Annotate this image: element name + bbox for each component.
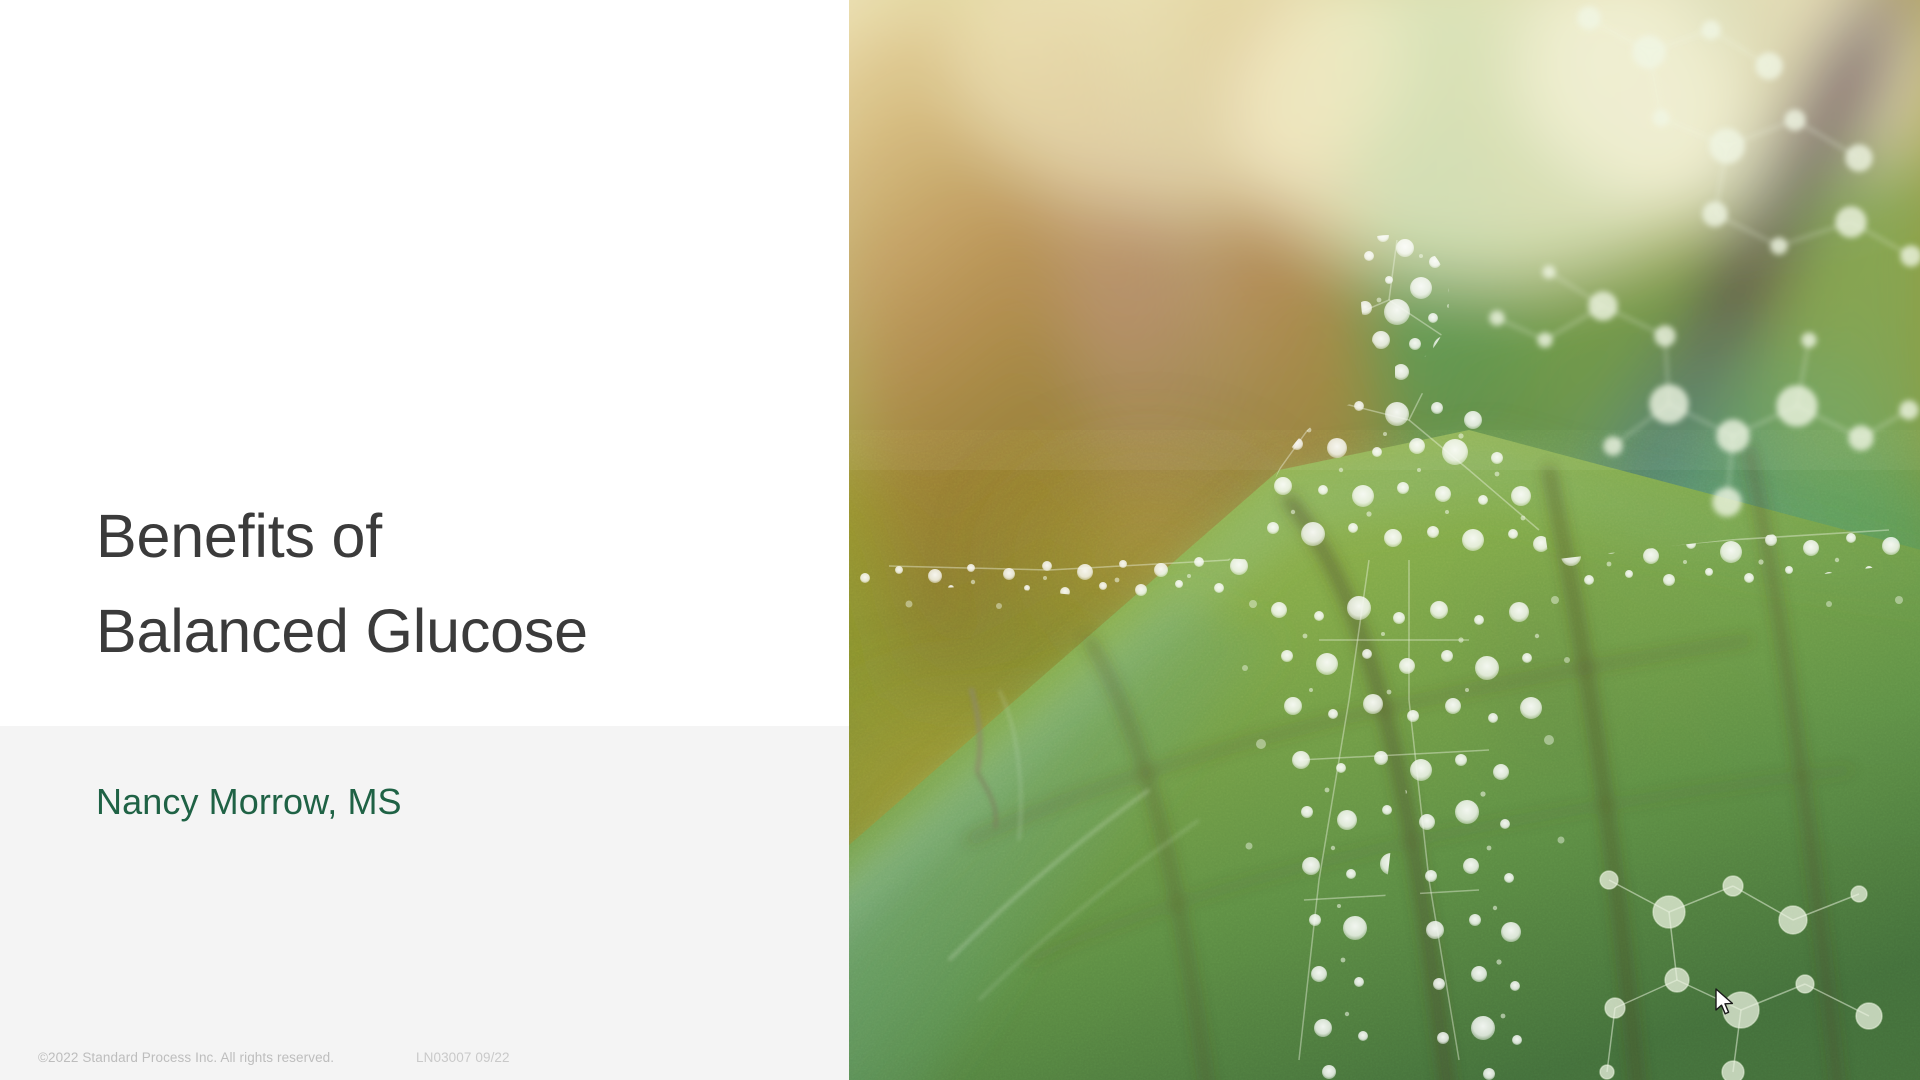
page-title: Benefits of Balanced Glucose [96, 489, 796, 679]
copyright-notice: ©2022 Standard Process Inc. All rights r… [38, 1048, 334, 1068]
molecule-cluster-lower-right [849, 0, 1920, 1080]
slide-footer: ©2022 Standard Process Inc. All rights r… [0, 1048, 849, 1074]
document-code: LN03007 09/22 [416, 1048, 510, 1068]
leaf-photo-panel [849, 0, 1920, 1080]
presenter-name: Nancy Morrow, MS [96, 780, 402, 824]
left-content-panel: Benefits of Balanced Glucose Nancy Morro… [0, 0, 849, 1080]
presentation-slide: Benefits of Balanced Glucose Nancy Morro… [0, 0, 1920, 1080]
